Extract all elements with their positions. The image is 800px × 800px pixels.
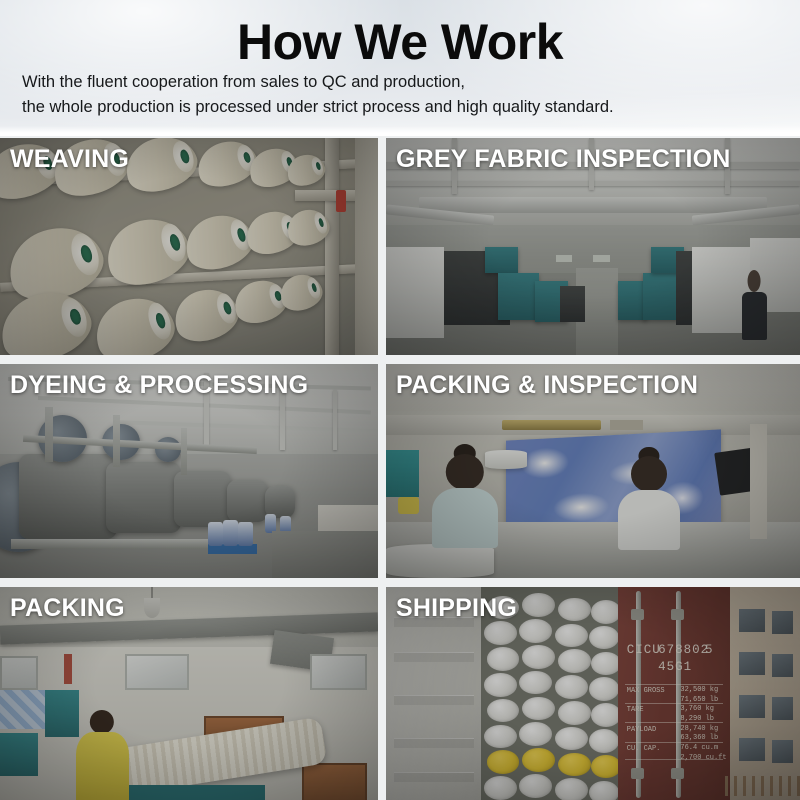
cell-label-dyeing-processing: DYEING & PROCESSING xyxy=(10,370,308,400)
process-grid: WEAVING xyxy=(0,136,800,800)
subtitle-line-2: the whole production is processed under … xyxy=(22,95,782,120)
cell-label-shipping: SHIPPING xyxy=(396,593,517,623)
page-subtitle: With the fluent cooperation from sales t… xyxy=(22,70,782,120)
cell-label-grey-fabric-inspection: GREY FABRIC INSPECTION xyxy=(396,144,731,174)
page-title: How We Work xyxy=(0,14,800,70)
process-cell-packing-inspection[interactable]: PACKING & INSPECTION xyxy=(386,364,800,578)
cell-label-weaving: WEAVING xyxy=(10,144,129,174)
how-we-work-page: How We Work With the fluent cooperation … xyxy=(0,0,800,800)
process-cell-packing[interactable]: PACKING xyxy=(0,587,378,800)
process-cell-shipping[interactable]: CICU 678802 5 45G1 MAX GROSS 32,500 kg 7… xyxy=(386,587,800,800)
process-cell-weaving[interactable]: WEAVING xyxy=(0,138,378,355)
process-cell-dyeing-processing[interactable]: DYEING & PROCESSING xyxy=(0,364,378,578)
process-cell-grey-fabric-inspection[interactable]: GREY FABRIC INSPECTION xyxy=(386,138,800,355)
page-header: How We Work With the fluent cooperation … xyxy=(0,0,800,136)
cell-label-packing: PACKING xyxy=(10,593,125,623)
subtitle-line-1: With the fluent cooperation from sales t… xyxy=(22,70,782,95)
cell-label-packing-inspection: PACKING & INSPECTION xyxy=(396,370,698,400)
